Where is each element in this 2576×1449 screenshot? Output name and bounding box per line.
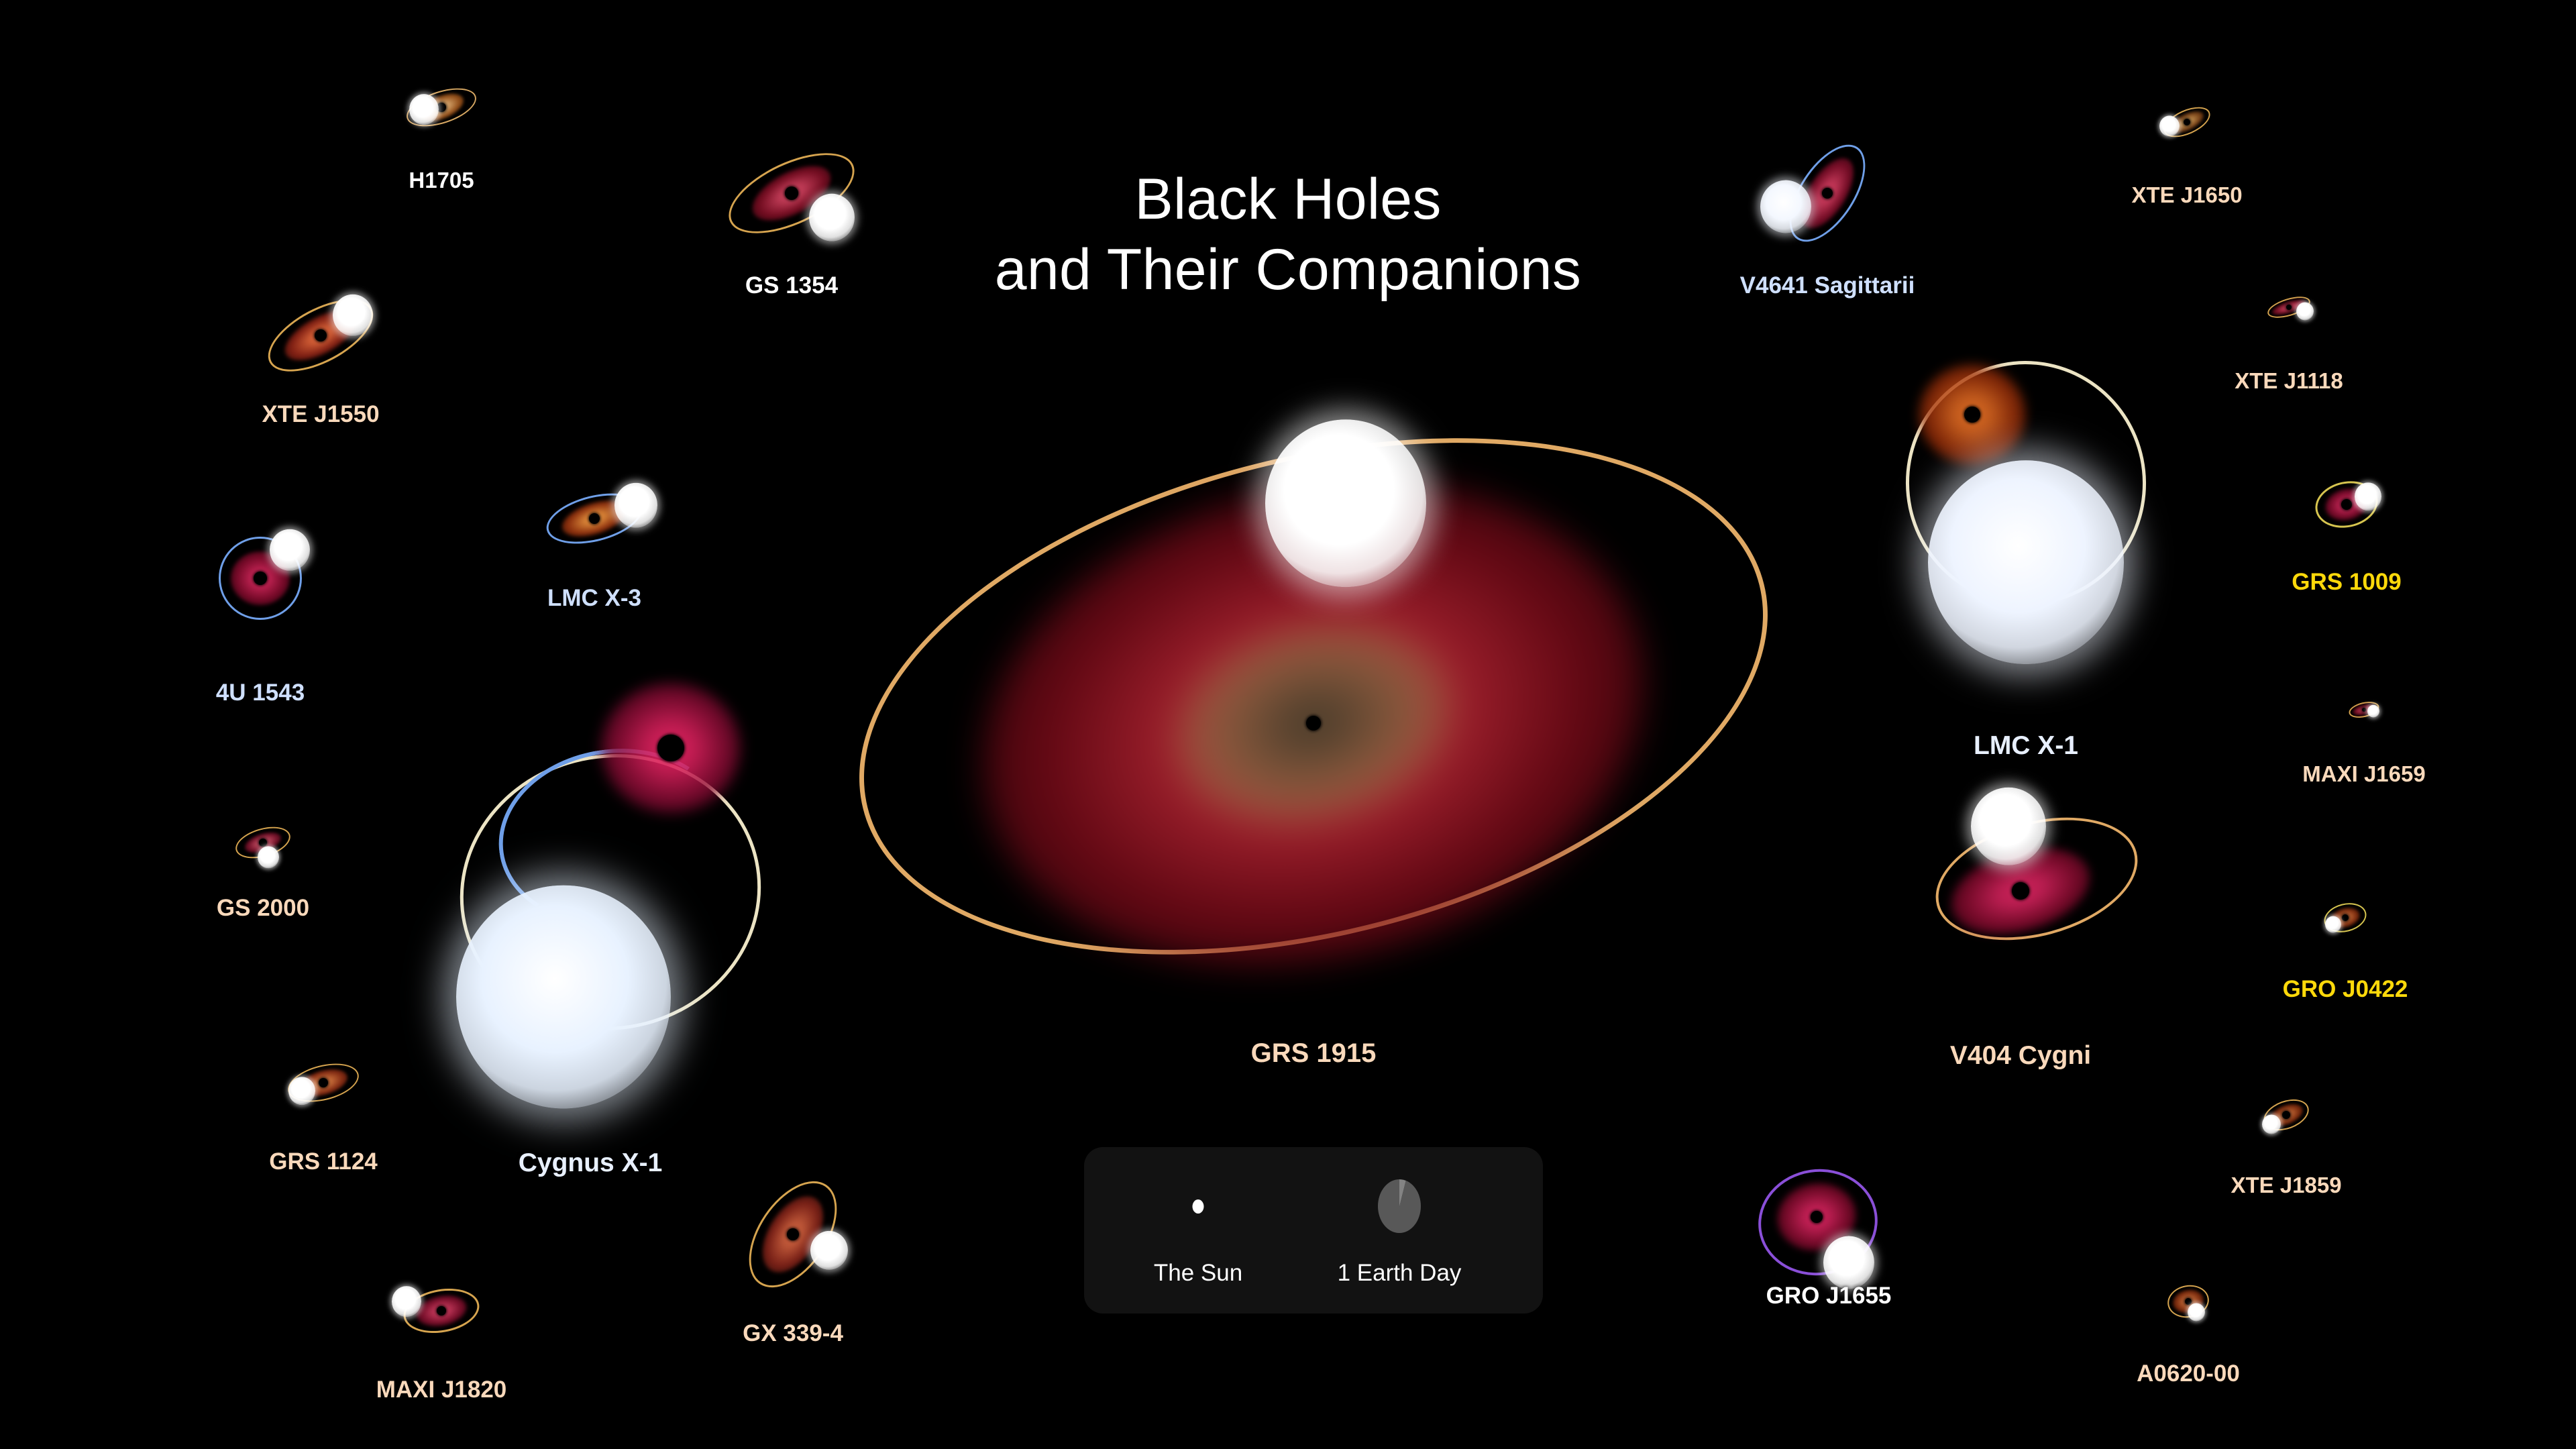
black-hole xyxy=(2184,119,2190,125)
companion-star xyxy=(809,194,855,241)
companion-star xyxy=(1928,460,2124,664)
black-hole xyxy=(657,735,684,761)
black-hole xyxy=(259,839,267,847)
black-hole xyxy=(2286,305,2292,310)
companion-star xyxy=(1760,180,1811,233)
system-label: GRO J0422 xyxy=(2283,976,2408,1003)
system-label: XTE J1859 xyxy=(2231,1173,2341,1198)
system-label: MAXI J1659 xyxy=(2302,761,2425,787)
black-hole xyxy=(319,1078,328,1087)
black-hole xyxy=(315,329,327,341)
system-label: GRS 1009 xyxy=(2292,569,2401,596)
black-hole xyxy=(1811,1211,1823,1223)
companion-star xyxy=(2367,705,2379,718)
black-hole xyxy=(1306,716,1321,731)
companion-star xyxy=(1971,788,2046,865)
legend-label-earth-day: 1 Earth Day xyxy=(1312,1260,1487,1287)
system-label: 4U 1543 xyxy=(216,680,305,706)
black-hole xyxy=(2362,708,2366,712)
black-hole xyxy=(2282,1111,2290,1119)
black-hole xyxy=(787,1228,799,1240)
system-label: XTE J1650 xyxy=(2131,182,2242,208)
companion-star xyxy=(2188,1303,2205,1321)
legend-label-sun: The Sun xyxy=(1111,1260,1285,1287)
system-label: XTE J1118 xyxy=(2235,368,2343,394)
black-hole xyxy=(2012,882,2029,900)
page-title: Black Holes and Their Companions xyxy=(926,164,1650,305)
black-hole xyxy=(2341,499,2352,510)
black-hole xyxy=(254,572,267,585)
black-hole xyxy=(2342,914,2349,921)
system-label: GRS 1915 xyxy=(1251,1038,1377,1069)
companion-star xyxy=(1265,419,1426,587)
black-hole xyxy=(589,513,600,524)
system-label: MAXI J1820 xyxy=(376,1377,507,1403)
system-label: GX 339-4 xyxy=(743,1320,843,1347)
title-line-1: Black Holes xyxy=(926,164,1650,235)
title-line-2: and Their Companions xyxy=(926,235,1650,305)
system-label: V404 Cygni xyxy=(1950,1041,2091,1071)
black-hole xyxy=(1822,188,1833,199)
system-label: H1705 xyxy=(409,168,474,193)
companion-star xyxy=(270,529,310,571)
companion-star xyxy=(456,885,671,1109)
system-label: LMC X-3 xyxy=(547,585,641,612)
sun-dot-icon xyxy=(1193,1199,1204,1214)
companion-star xyxy=(614,483,657,528)
companion-star xyxy=(258,846,279,868)
system-label: GRS 1124 xyxy=(269,1148,378,1175)
system-label: GRO J1655 xyxy=(1766,1283,1892,1309)
system-label: Cygnus X-1 xyxy=(519,1148,663,1178)
black-hole xyxy=(2185,1298,2192,1305)
companion-star xyxy=(333,294,373,336)
scale-legend: The Sun 1 Earth Day xyxy=(1084,1147,1543,1313)
system-label: V4641 Sagittarii xyxy=(1740,272,1915,299)
companion-star xyxy=(2159,115,2180,136)
infographic-canvas: Black Holes and Their Companions H1705GS… xyxy=(0,0,2576,1449)
black-hole xyxy=(1964,407,1980,423)
companion-star xyxy=(1823,1236,1874,1289)
system-label: LMC X-1 xyxy=(1974,731,2078,761)
system-label: A0620-00 xyxy=(2137,1360,2240,1387)
legend-item-sun: The Sun xyxy=(1111,1147,1285,1313)
companion-star xyxy=(810,1231,848,1270)
black-hole xyxy=(437,1306,446,1316)
system-label: GS 1354 xyxy=(745,272,838,299)
companion-star xyxy=(2296,302,2314,320)
companion-star xyxy=(2262,1114,2281,1134)
system-label: GS 2000 xyxy=(217,895,309,922)
companion-star xyxy=(2355,482,2381,511)
companion-star xyxy=(2325,916,2341,933)
legend-item-earth-day: 1 Earth Day xyxy=(1312,1147,1487,1313)
companion-star xyxy=(288,1077,315,1105)
companion-star xyxy=(409,94,439,125)
system-label: XTE J1550 xyxy=(262,401,379,428)
companion-star xyxy=(392,1286,421,1317)
black-hole xyxy=(785,186,798,200)
clock-disc-icon xyxy=(1378,1179,1421,1233)
